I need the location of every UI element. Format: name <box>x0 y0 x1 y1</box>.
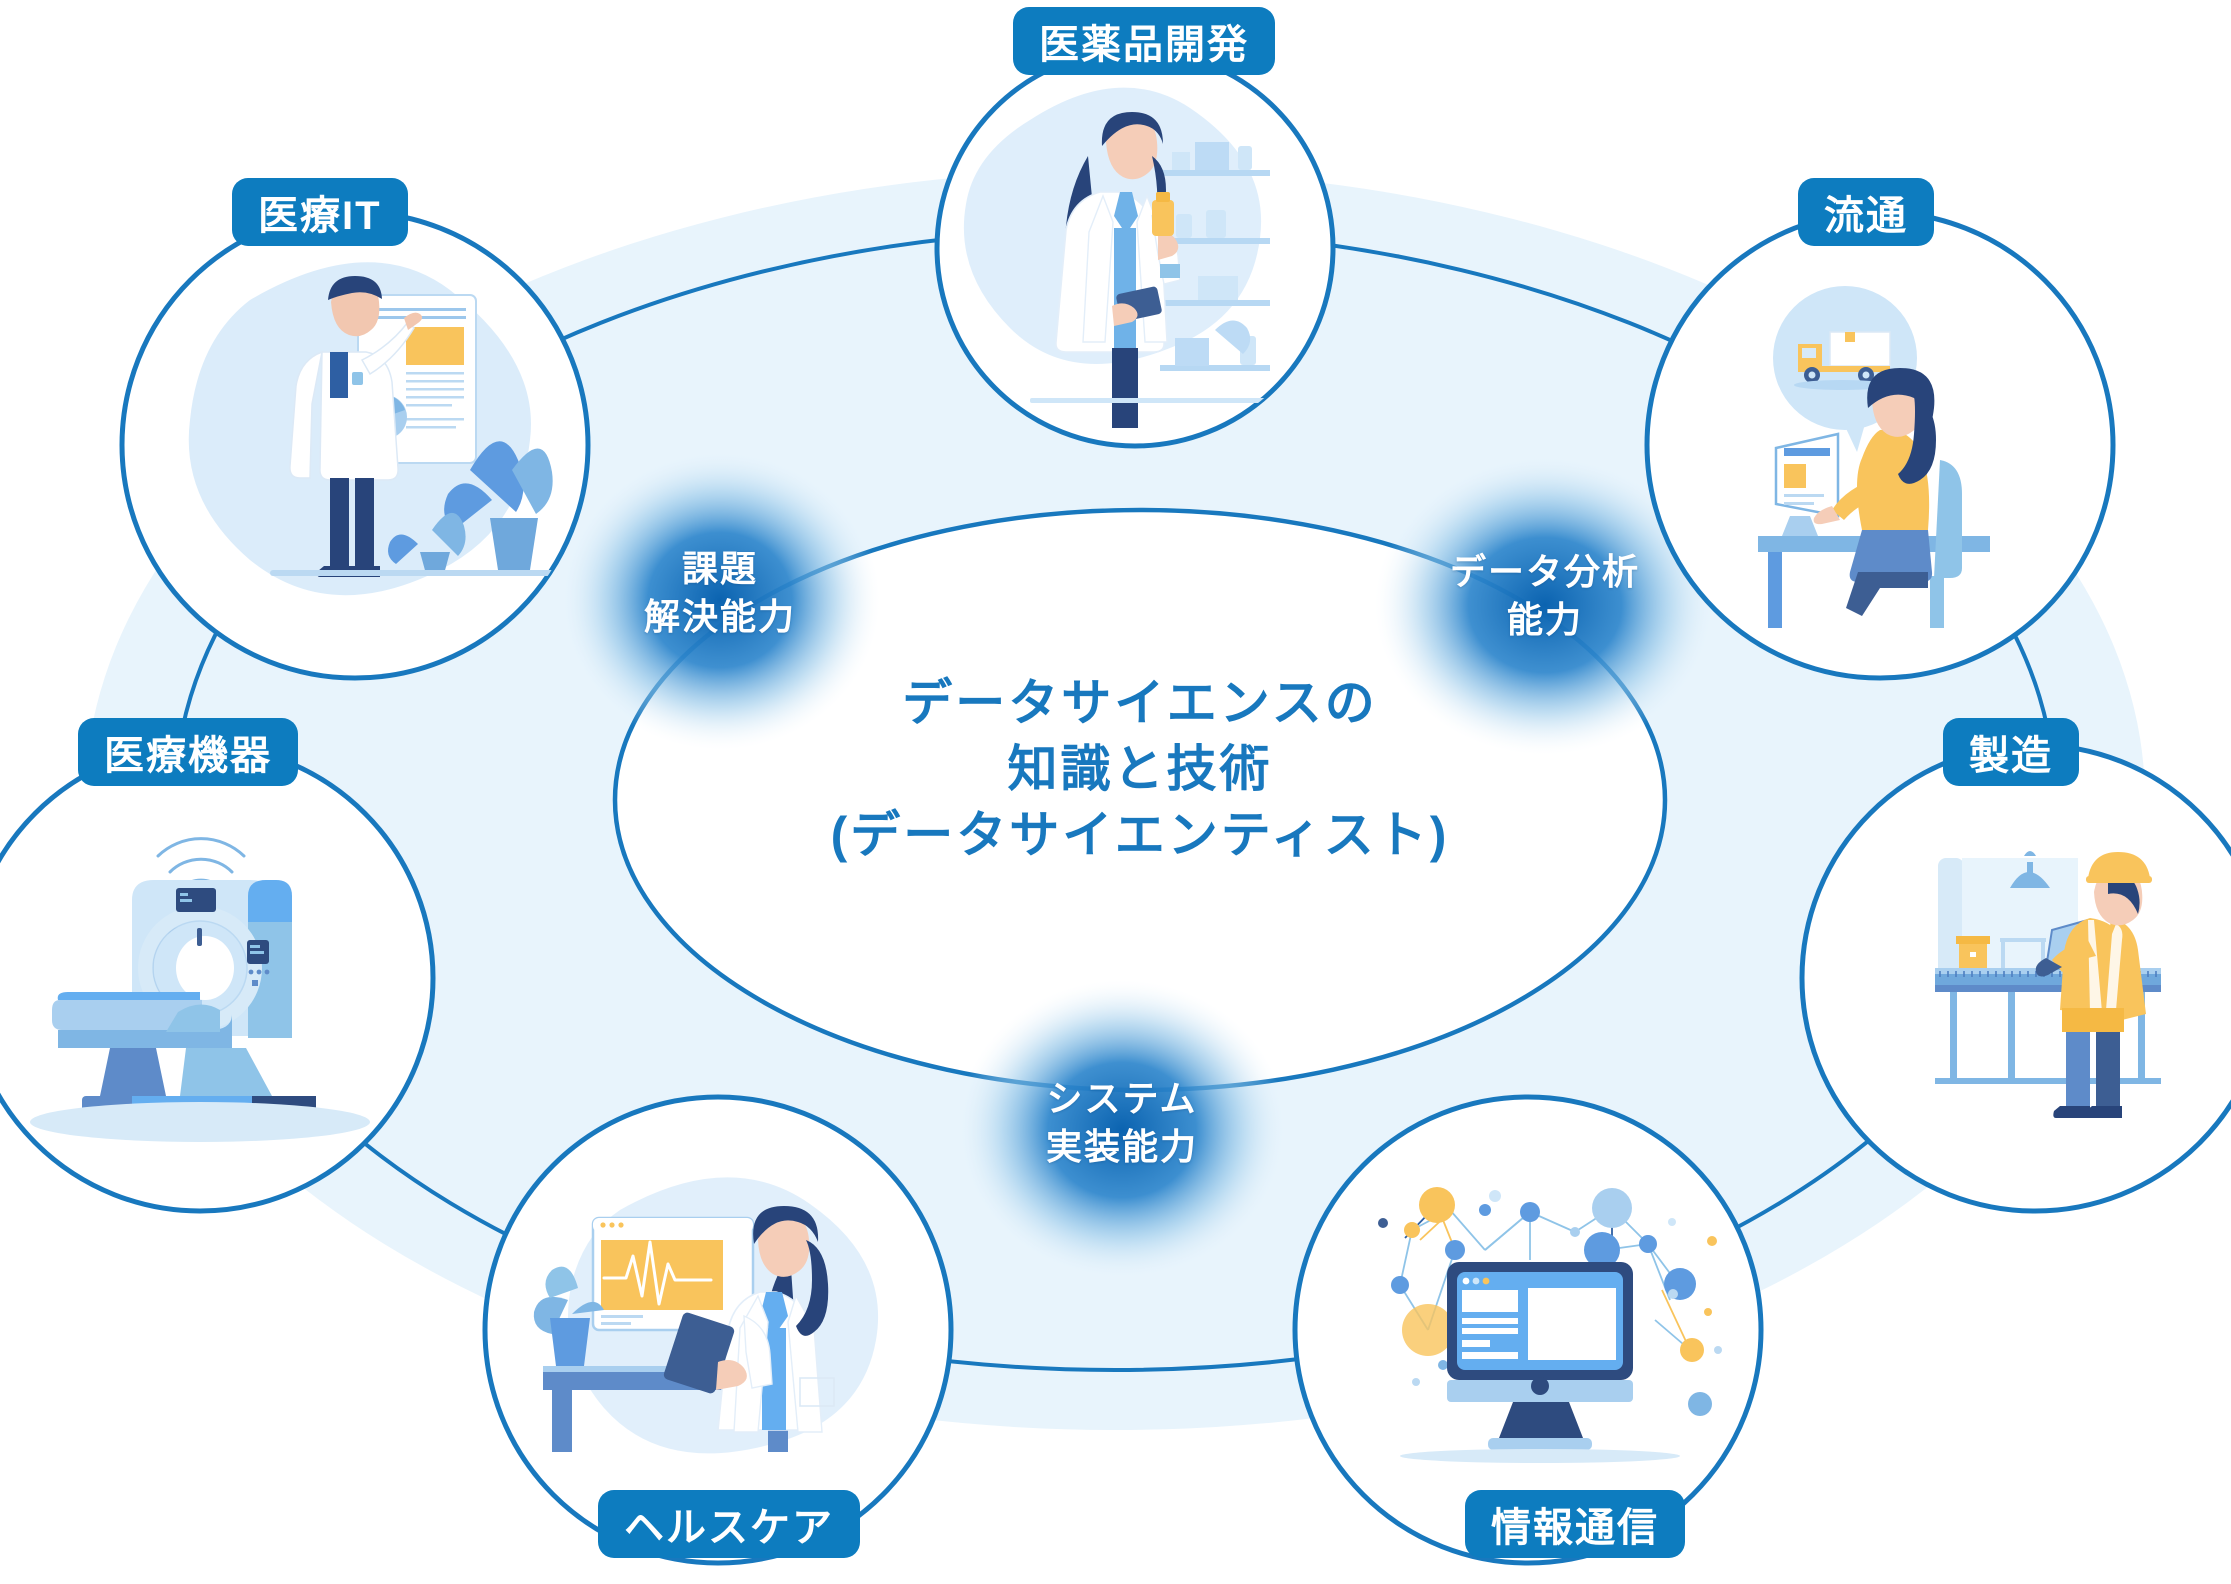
skill-system-implementation-line1: システム <box>1002 1075 1242 1123</box>
label-distribution[interactable]: 流通 <box>1798 178 1934 246</box>
label-info-communication[interactable]: 情報通信 <box>1465 1490 1685 1558</box>
skill-system-implementation: システム 実装能力 <box>1002 1075 1242 1171</box>
center-title-line1: データサイエンスの <box>640 670 1640 736</box>
circle-medical-it <box>122 212 588 678</box>
label-medical-it[interactable]: 医療IT <box>232 178 408 246</box>
skill-data-analysis: データ分析 能力 <box>1425 548 1665 644</box>
skill-data-analysis-line2: 能力 <box>1425 596 1665 644</box>
circle-medical-device <box>0 745 433 1211</box>
label-medical-device[interactable]: 医療機器 <box>78 718 298 786</box>
skill-problem-solving-line2: 解決能力 <box>600 593 840 641</box>
label-healthcare[interactable]: ヘルスケア <box>598 1490 860 1558</box>
center-title: データサイエンスの 知識と技術 (データサイエンティスト) <box>640 670 1640 868</box>
center-title-line2: 知識と技術 <box>640 736 1640 802</box>
label-manufacturing-text: 製造 <box>1969 723 2053 781</box>
label-pharma-dev-text: 医薬品開発 <box>1039 12 1249 70</box>
skill-system-implementation-line2: 実装能力 <box>1002 1123 1242 1171</box>
circle-pharma-dev <box>937 50 1333 446</box>
label-medical-it-text: 医療IT <box>258 183 382 241</box>
diagram-canvas: 医療IT 医薬品開発 流通 製造 情報通信 ヘルスケア 医療機器 課題 解決能力… <box>0 0 2231 1584</box>
circle-manufacturing <box>1802 745 2231 1211</box>
skill-data-analysis-line1: データ分析 <box>1425 548 1665 596</box>
label-distribution-text: 流通 <box>1824 183 1908 241</box>
circle-distribution <box>1647 212 2113 678</box>
center-title-line3: (データサイエンティスト) <box>640 802 1640 868</box>
label-info-communication-text: 情報通信 <box>1491 1495 1659 1553</box>
label-pharma-dev[interactable]: 医薬品開発 <box>1013 7 1275 75</box>
label-manufacturing[interactable]: 製造 <box>1943 718 2079 786</box>
skill-problem-solving-line1: 課題 <box>600 545 840 593</box>
skill-problem-solving: 課題 解決能力 <box>600 545 840 641</box>
label-medical-device-text: 医療機器 <box>104 723 272 781</box>
label-healthcare-text: ヘルスケア <box>624 1495 834 1553</box>
